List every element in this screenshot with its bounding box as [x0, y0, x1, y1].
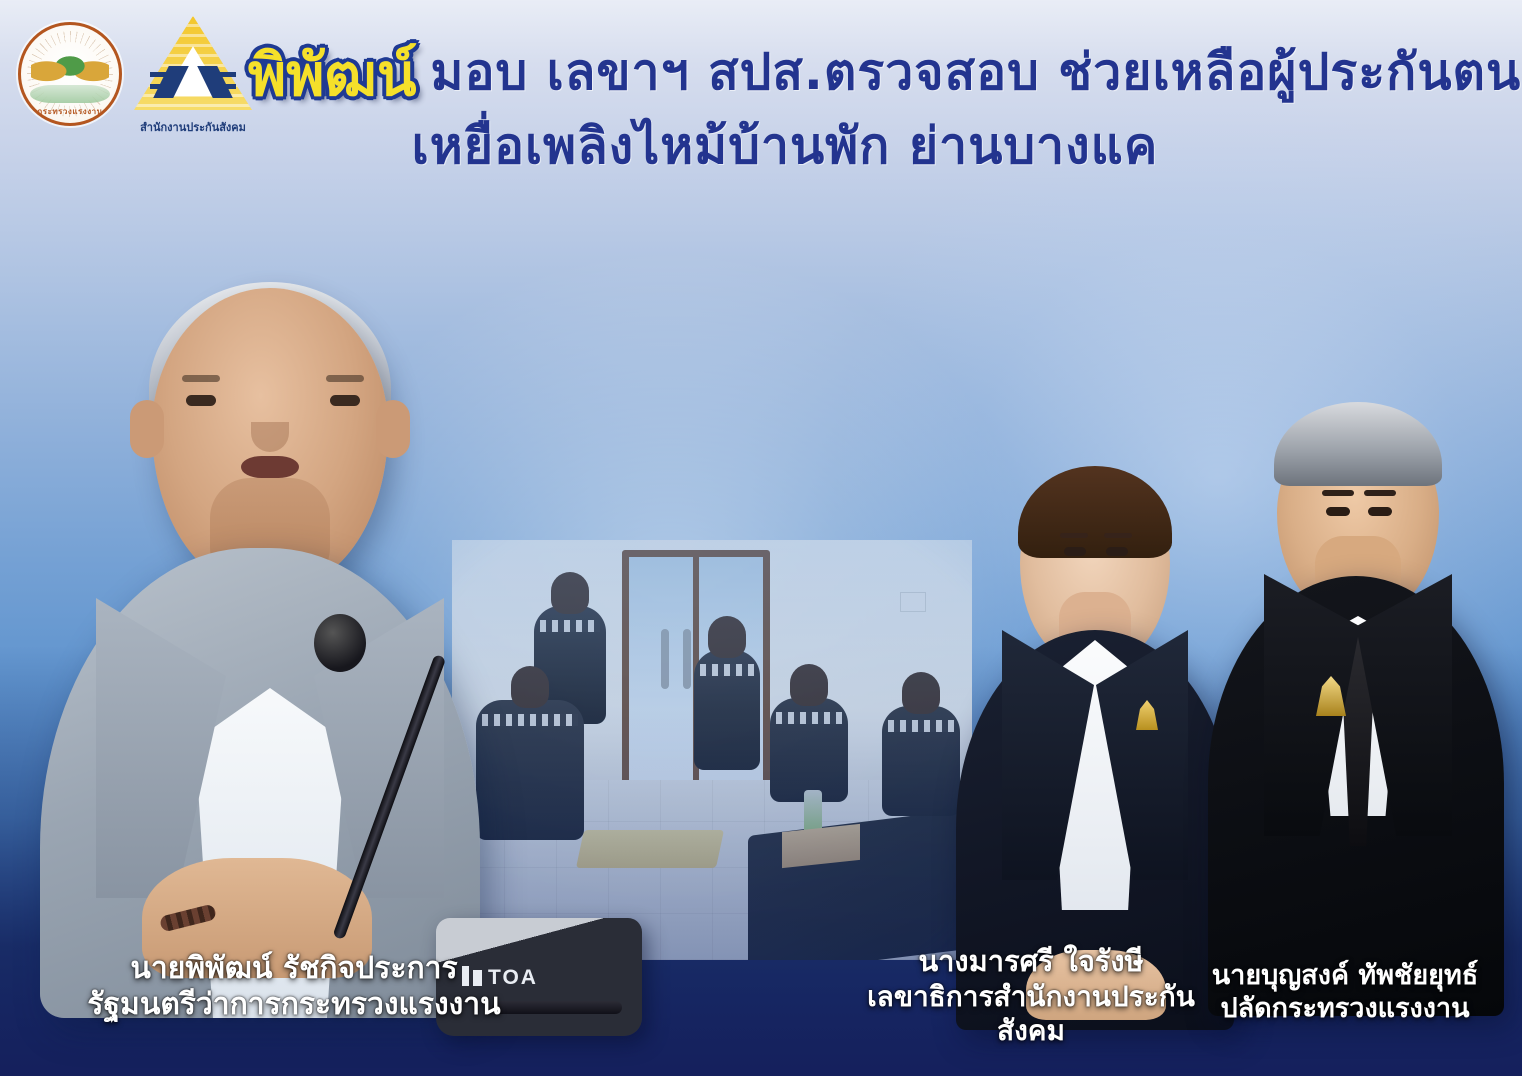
caption-permanent-secretary-title: ปลัดกระทรวงแรงงาน	[1180, 993, 1510, 1026]
minister-portrait	[10, 258, 530, 1018]
permanent-secretary-portrait	[1208, 326, 1508, 1016]
secretary-general-hair-front	[1018, 466, 1172, 558]
photo-blue-tint-overlay	[452, 540, 972, 960]
caption-minister-title: รัฐมนตรีว่าการกระทรวงแรงงาน	[34, 987, 554, 1024]
caption-permanent-secretary: นายบุญสงค์ ทัพชัยยุทธ์ ปลัดกระทรวงแรงงาน	[1180, 960, 1510, 1026]
headline-highlight-word: พิพัฒน์	[248, 46, 417, 104]
permanent-secretary-eye-right	[1368, 507, 1392, 516]
minister-eye-right	[330, 395, 360, 406]
caption-secretary-general: นางมารศรี ใจรังษี เลขาธิการสำนักงานประกั…	[836, 944, 1226, 1048]
headline-line-2: เหยื่อเพลิงไหม้บ้านพัก ย่านบางแค	[248, 118, 1492, 174]
permanent-secretary-hair	[1274, 402, 1442, 486]
minister-ear-left	[130, 400, 164, 458]
microphone-capsule-icon	[314, 614, 366, 672]
minister-eye-left	[186, 395, 216, 406]
caption-permanent-secretary-name: นายบุญสงค์ ทัพชัยยุทธ์	[1180, 960, 1510, 993]
headline-block: พิพัฒน์มอบ เลขาฯ สปส.ตรวจสอบ ช่วยเหลือผู…	[248, 44, 1492, 174]
caption-secretary-general-title: เลขาธิการสำนักงานประกันสังคม	[836, 980, 1226, 1048]
ministry-of-labour-emblem-icon: กระทรวงแรงงาน	[18, 22, 122, 126]
caption-minister-name: นายพิพัฒน์ รัชกิจประการ	[34, 951, 554, 988]
minister-mouth	[241, 456, 299, 478]
minister-ear-right	[376, 400, 410, 458]
headline-line-1: พิพัฒน์มอบ เลขาฯ สปส.ตรวจสอบ ช่วยเหลือผู…	[248, 44, 1492, 104]
header: กระทรวงแรงงาน สำนักงานประกันสังคม พิพัฒน…	[0, 0, 1522, 240]
seal-cloud	[30, 85, 110, 103]
sso-geometric-mark	[150, 66, 236, 100]
minister-brow-right	[326, 375, 364, 382]
secretary-general-portrait	[950, 400, 1240, 1030]
sso-logo-caption: สำนักงานประกันสังคม	[128, 118, 258, 136]
headline-line-1-rest: มอบ เลขาฯ สปส.ตรวจสอบ ช่วยเหลือผู้ประกัน…	[431, 44, 1522, 100]
poster-root: กระทรวงแรงงาน สำนักงานประกันสังคม พิพัฒน…	[0, 0, 1522, 1076]
secretary-general-eye-right	[1106, 547, 1128, 556]
secretary-general-brow-left	[1060, 533, 1088, 538]
caption-secretary-general-name: นางมารศรี ใจรังษี	[836, 944, 1226, 979]
social-security-office-logo-icon: สำนักงานประกันสังคม	[134, 14, 252, 134]
secretary-general-brow-right	[1104, 533, 1132, 538]
secretary-general-eye-left	[1064, 547, 1086, 556]
caption-minister: นายพิพัฒน์ รัชกิจประการ รัฐมนตรีว่าการกร…	[34, 951, 554, 1024]
permanent-secretary-brow-right	[1364, 490, 1396, 496]
permanent-secretary-brow-left	[1322, 490, 1354, 496]
minister-brow-left	[182, 375, 220, 382]
field-operation-photo	[452, 540, 972, 960]
ministry-logo-caption: กระทรวงแรงงาน	[21, 105, 119, 118]
permanent-secretary-eye-left	[1326, 507, 1350, 516]
